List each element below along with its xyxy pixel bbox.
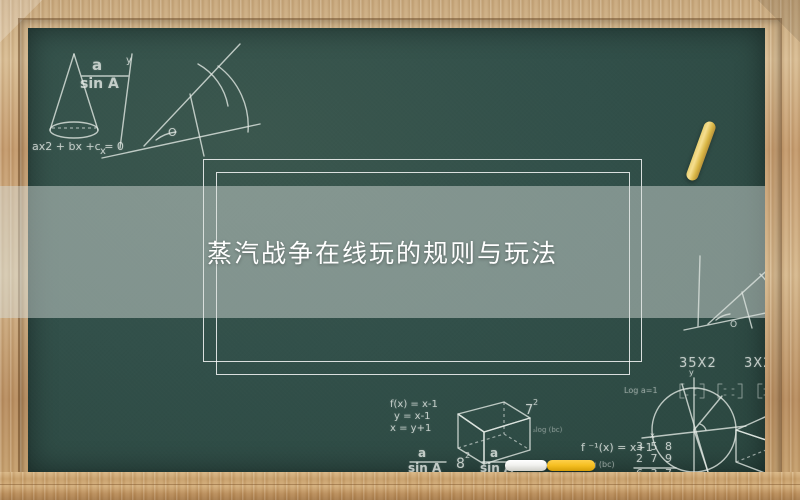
ledge-edge-line xyxy=(0,484,800,485)
title-overlay-band: 蒸汽战争在线玩的规则与玩法 xyxy=(0,186,765,318)
page-title: 蒸汽战争在线玩的规则与玩法 xyxy=(207,234,558,270)
ledge-grain xyxy=(0,472,800,500)
chalk-ledge xyxy=(0,472,800,500)
yellow-chalk-stick[interactable] xyxy=(547,460,595,471)
chalkboard-scene: a sin A y x O ax2 + bx +c = 0 O xyxy=(0,0,800,500)
white-chalk-stick[interactable] xyxy=(505,460,547,471)
